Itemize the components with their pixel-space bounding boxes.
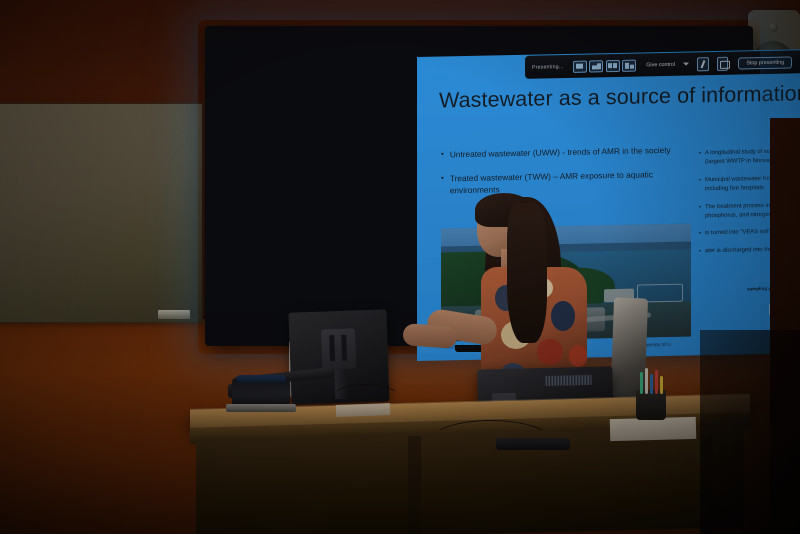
bullet-dot: ▪ xyxy=(699,203,701,222)
bullet-dot: • xyxy=(441,172,444,197)
paper-sheet xyxy=(610,417,697,441)
foreground-shadow xyxy=(700,330,800,534)
pen-icon[interactable] xyxy=(697,57,709,71)
teams-presenting-toolbar[interactable]: Presenting... Give control Stop presenti… xyxy=(525,50,800,79)
pen xyxy=(660,376,663,394)
presenting-status: Presenting... xyxy=(532,64,564,71)
list-item: •Untreated wastewater (UWW) - trends of … xyxy=(441,143,693,161)
bullet-dot: • xyxy=(441,148,444,161)
cable xyxy=(330,384,402,416)
bullet-dot: ▪ xyxy=(699,149,701,168)
desk-leg xyxy=(408,436,421,534)
layout-content-only-icon[interactable] xyxy=(573,60,587,72)
whiteboard-frame xyxy=(0,102,204,324)
bullet-dot: ▪ xyxy=(699,230,701,239)
pen xyxy=(650,374,653,394)
av-control-base xyxy=(226,404,296,412)
whiteboard-mount-screw xyxy=(191,313,195,317)
stop-presenting-button[interactable]: Stop presenting xyxy=(738,56,792,69)
layout-side-by-side-icon[interactable] xyxy=(606,59,620,71)
layout-reporter-icon[interactable] xyxy=(622,59,636,71)
whiteboard-marker-tray xyxy=(158,310,190,319)
give-control-label[interactable]: Give control xyxy=(646,61,675,68)
pen xyxy=(640,372,643,394)
pen xyxy=(645,368,648,394)
lecture-room-scene: Wastewater as a source of information Yn… xyxy=(0,0,800,534)
cable xyxy=(430,420,552,462)
slide-title: Wastewater as a source of information xyxy=(439,81,800,113)
bullet-dot: ▪ xyxy=(699,247,701,256)
pen-holder xyxy=(636,390,666,420)
bullet-dot: ▪ xyxy=(699,176,701,195)
chevron-down-icon[interactable] xyxy=(683,63,689,66)
speaker-tweeter-icon xyxy=(769,23,778,32)
layout-content-left-icon[interactable] xyxy=(589,60,603,72)
screen-icon[interactable] xyxy=(717,56,729,70)
pen xyxy=(655,370,658,394)
